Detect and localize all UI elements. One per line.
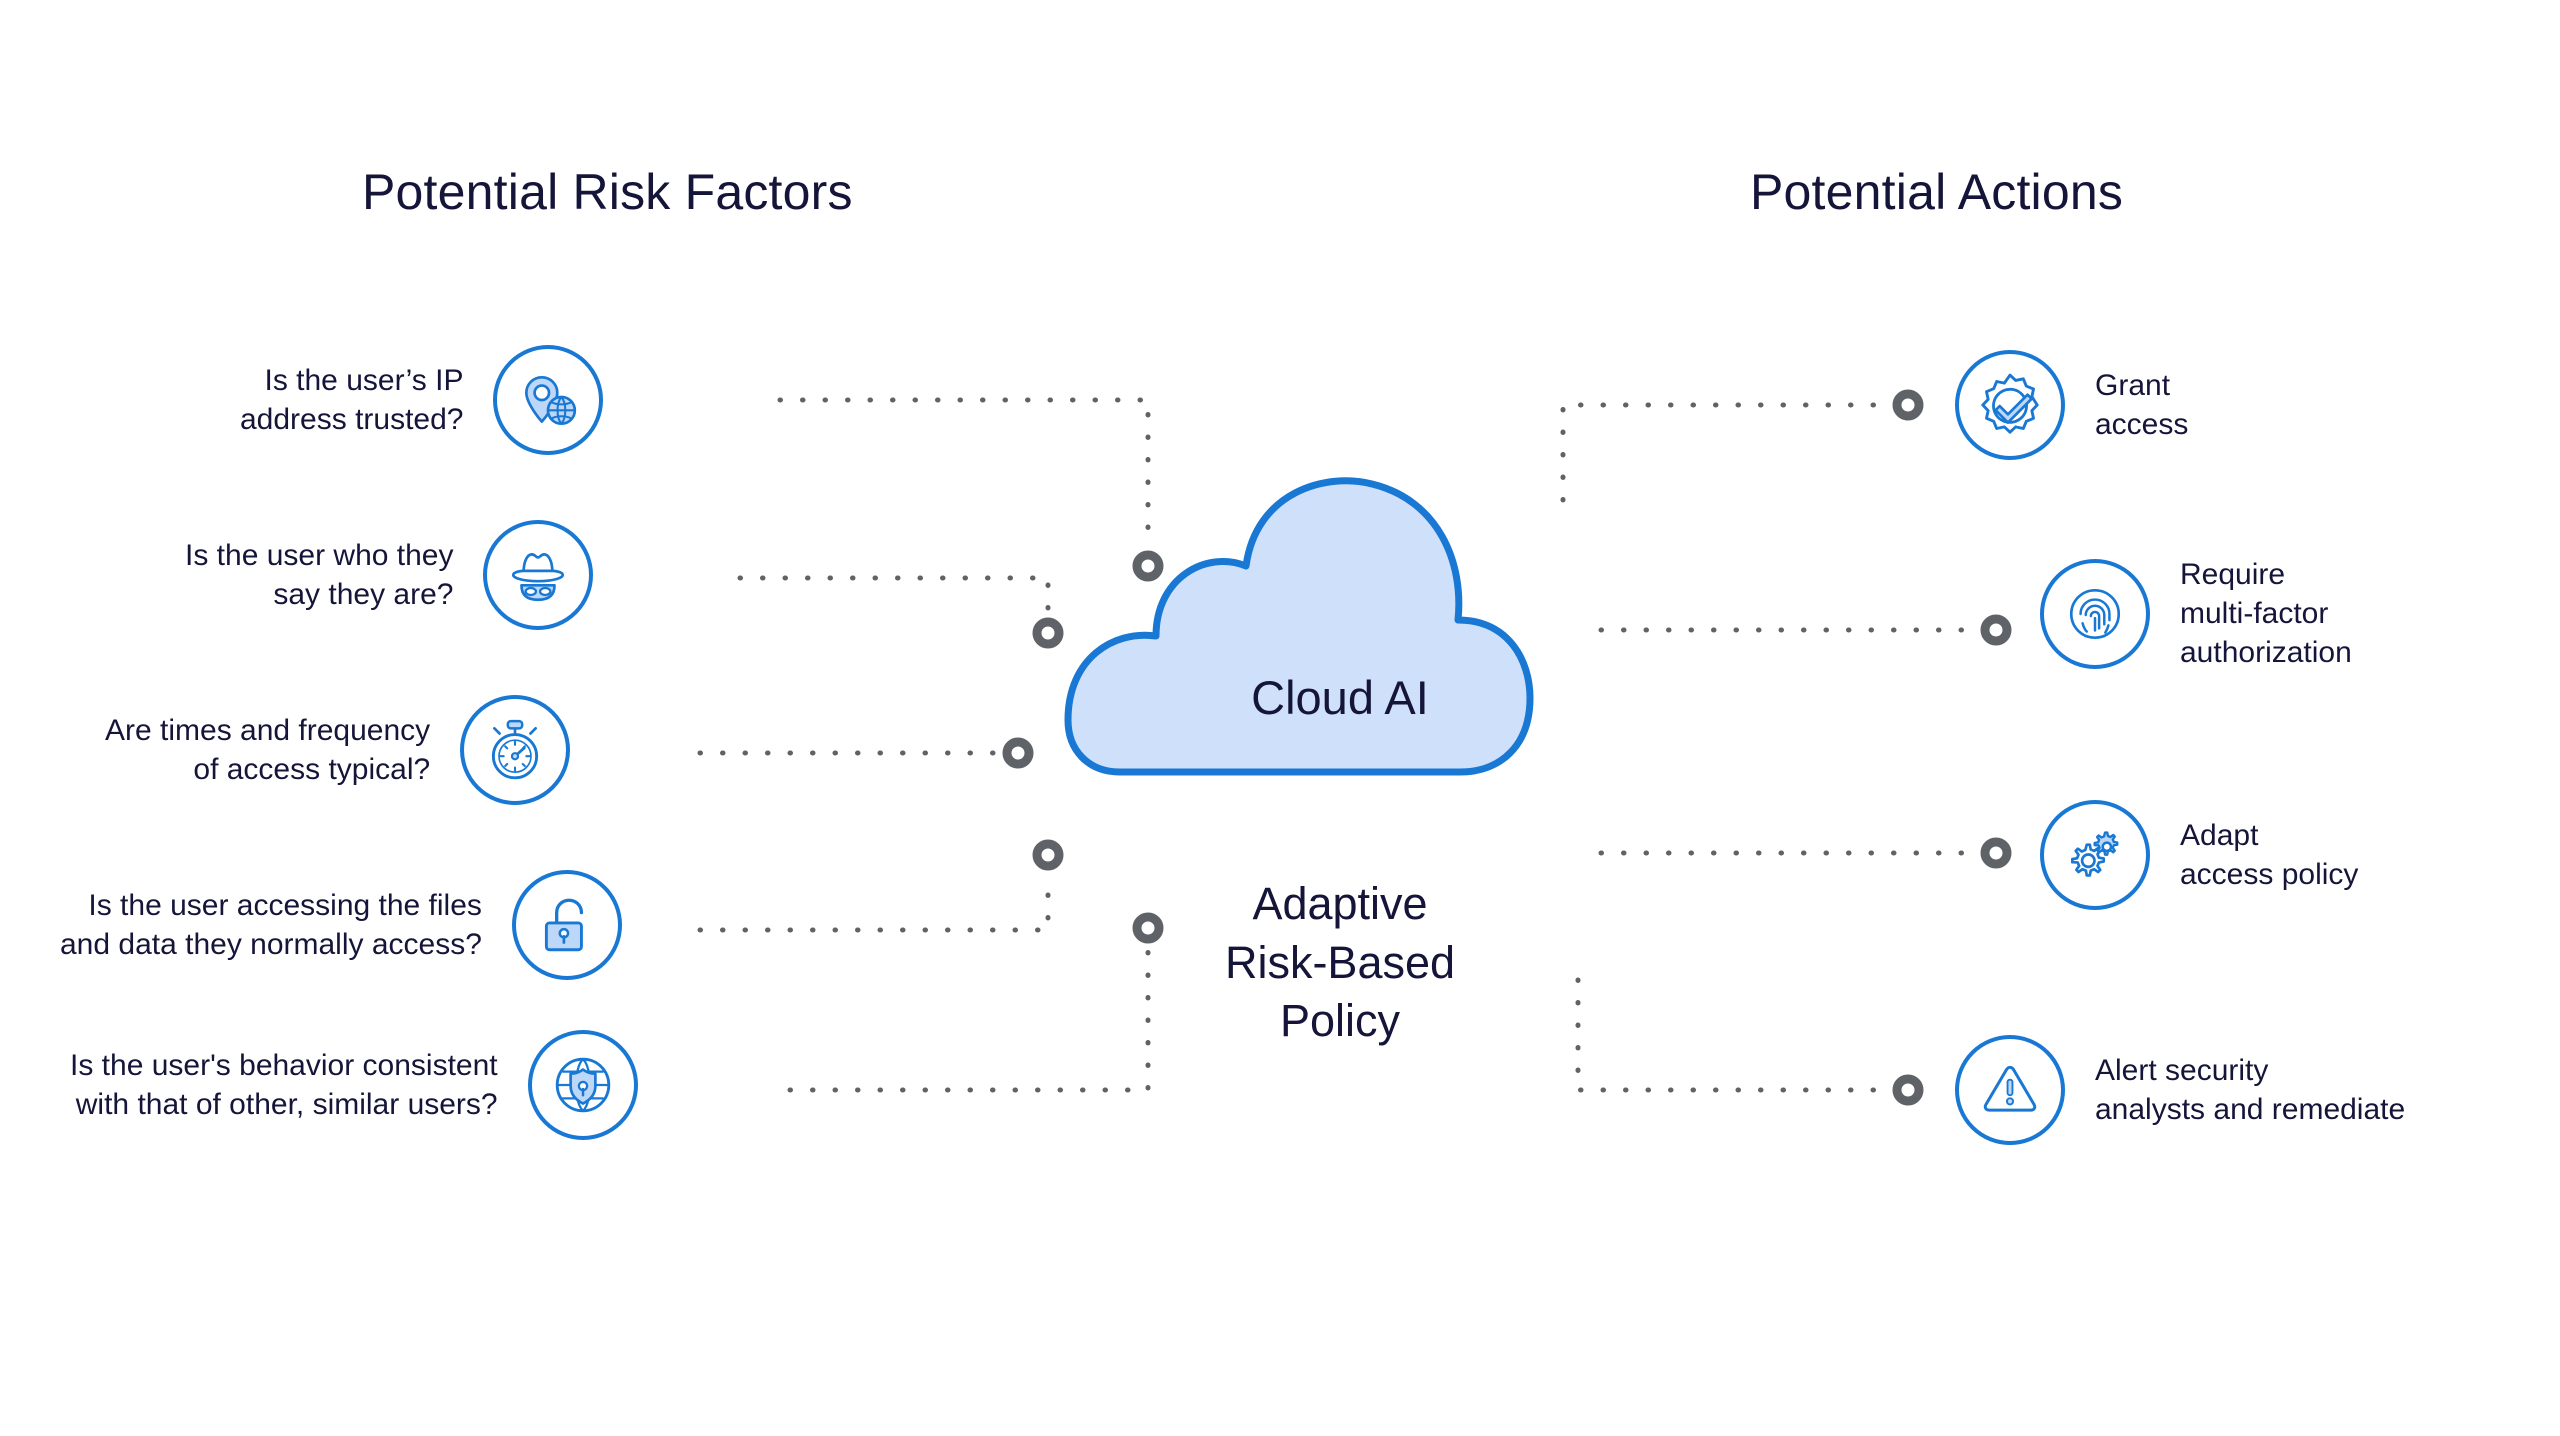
risk-factor-row-5[interactable]: Is the user's behavior consistent with t…	[70, 1030, 638, 1140]
location-pin-globe-icon	[493, 345, 603, 455]
risk-factor-label-3: Are times and frequency of access typica…	[105, 711, 460, 789]
action-label-1: Grant access	[2065, 366, 2188, 444]
connector-node	[1037, 844, 1059, 866]
globe-shield-lock-icon	[528, 1030, 638, 1140]
risk-factor-label-1: Is the user’s IP address trusted?	[240, 361, 493, 439]
risk-factor-row-4[interactable]: Is the user accessing the files and data…	[60, 870, 622, 980]
fingerprint-icon	[2040, 559, 2150, 669]
action-row-1[interactable]: Grant access	[1955, 350, 2188, 460]
connector-node	[1985, 842, 2007, 864]
risk-factor-label-4: Is the user accessing the files and data…	[60, 886, 512, 964]
action-label-3: Adapt access policy	[2150, 816, 2358, 894]
page-title-risk-factors: Potential Risk Factors	[362, 163, 853, 221]
unlocked-padlock-icon	[512, 870, 622, 980]
risk-factor-label-5: Is the user's behavior consistent with t…	[70, 1046, 528, 1124]
action-label-2: Require multi-factor authorization	[2150, 555, 2352, 672]
cloud-ai-shape	[1060, 470, 1620, 820]
verified-check-badge-icon	[1955, 350, 2065, 460]
risk-factor-row-1[interactable]: Is the user’s IP address trusted?	[240, 345, 603, 455]
risk-factor-row-2[interactable]: Is the user who they say they are?	[185, 520, 593, 630]
warning-triangle-icon	[1955, 1035, 2065, 1145]
connector-node	[1985, 619, 2007, 641]
connector-node	[1037, 622, 1059, 644]
connector-node	[1007, 742, 1029, 764]
cloud-ai-label: Cloud AI	[1060, 670, 1620, 725]
risk-factor-label-2: Is the user who they say they are?	[185, 536, 483, 614]
risk-factor-row-3[interactable]: Are times and frequency of access typica…	[105, 695, 570, 805]
diagram-canvas: Potential Risk Factors Potential Actions	[0, 0, 2560, 1436]
connector-node	[1897, 1079, 1919, 1101]
connector-node	[1897, 394, 1919, 416]
action-row-4[interactable]: Alert security analysts and remediate	[1955, 1035, 2405, 1145]
action-label-4: Alert security analysts and remediate	[2065, 1051, 2405, 1129]
spy-hat-mask-icon	[483, 520, 593, 630]
action-row-2[interactable]: Require multi-factor authorization	[2040, 555, 2352, 672]
connector-node	[1137, 917, 1159, 939]
action-row-3[interactable]: Adapt access policy	[2040, 800, 2358, 910]
page-title-actions: Potential Actions	[1750, 163, 2123, 221]
gears-icon	[2040, 800, 2150, 910]
stopwatch-icon	[460, 695, 570, 805]
adaptive-risk-based-policy-label: Adaptive Risk-Based Policy	[1160, 875, 1520, 1051]
